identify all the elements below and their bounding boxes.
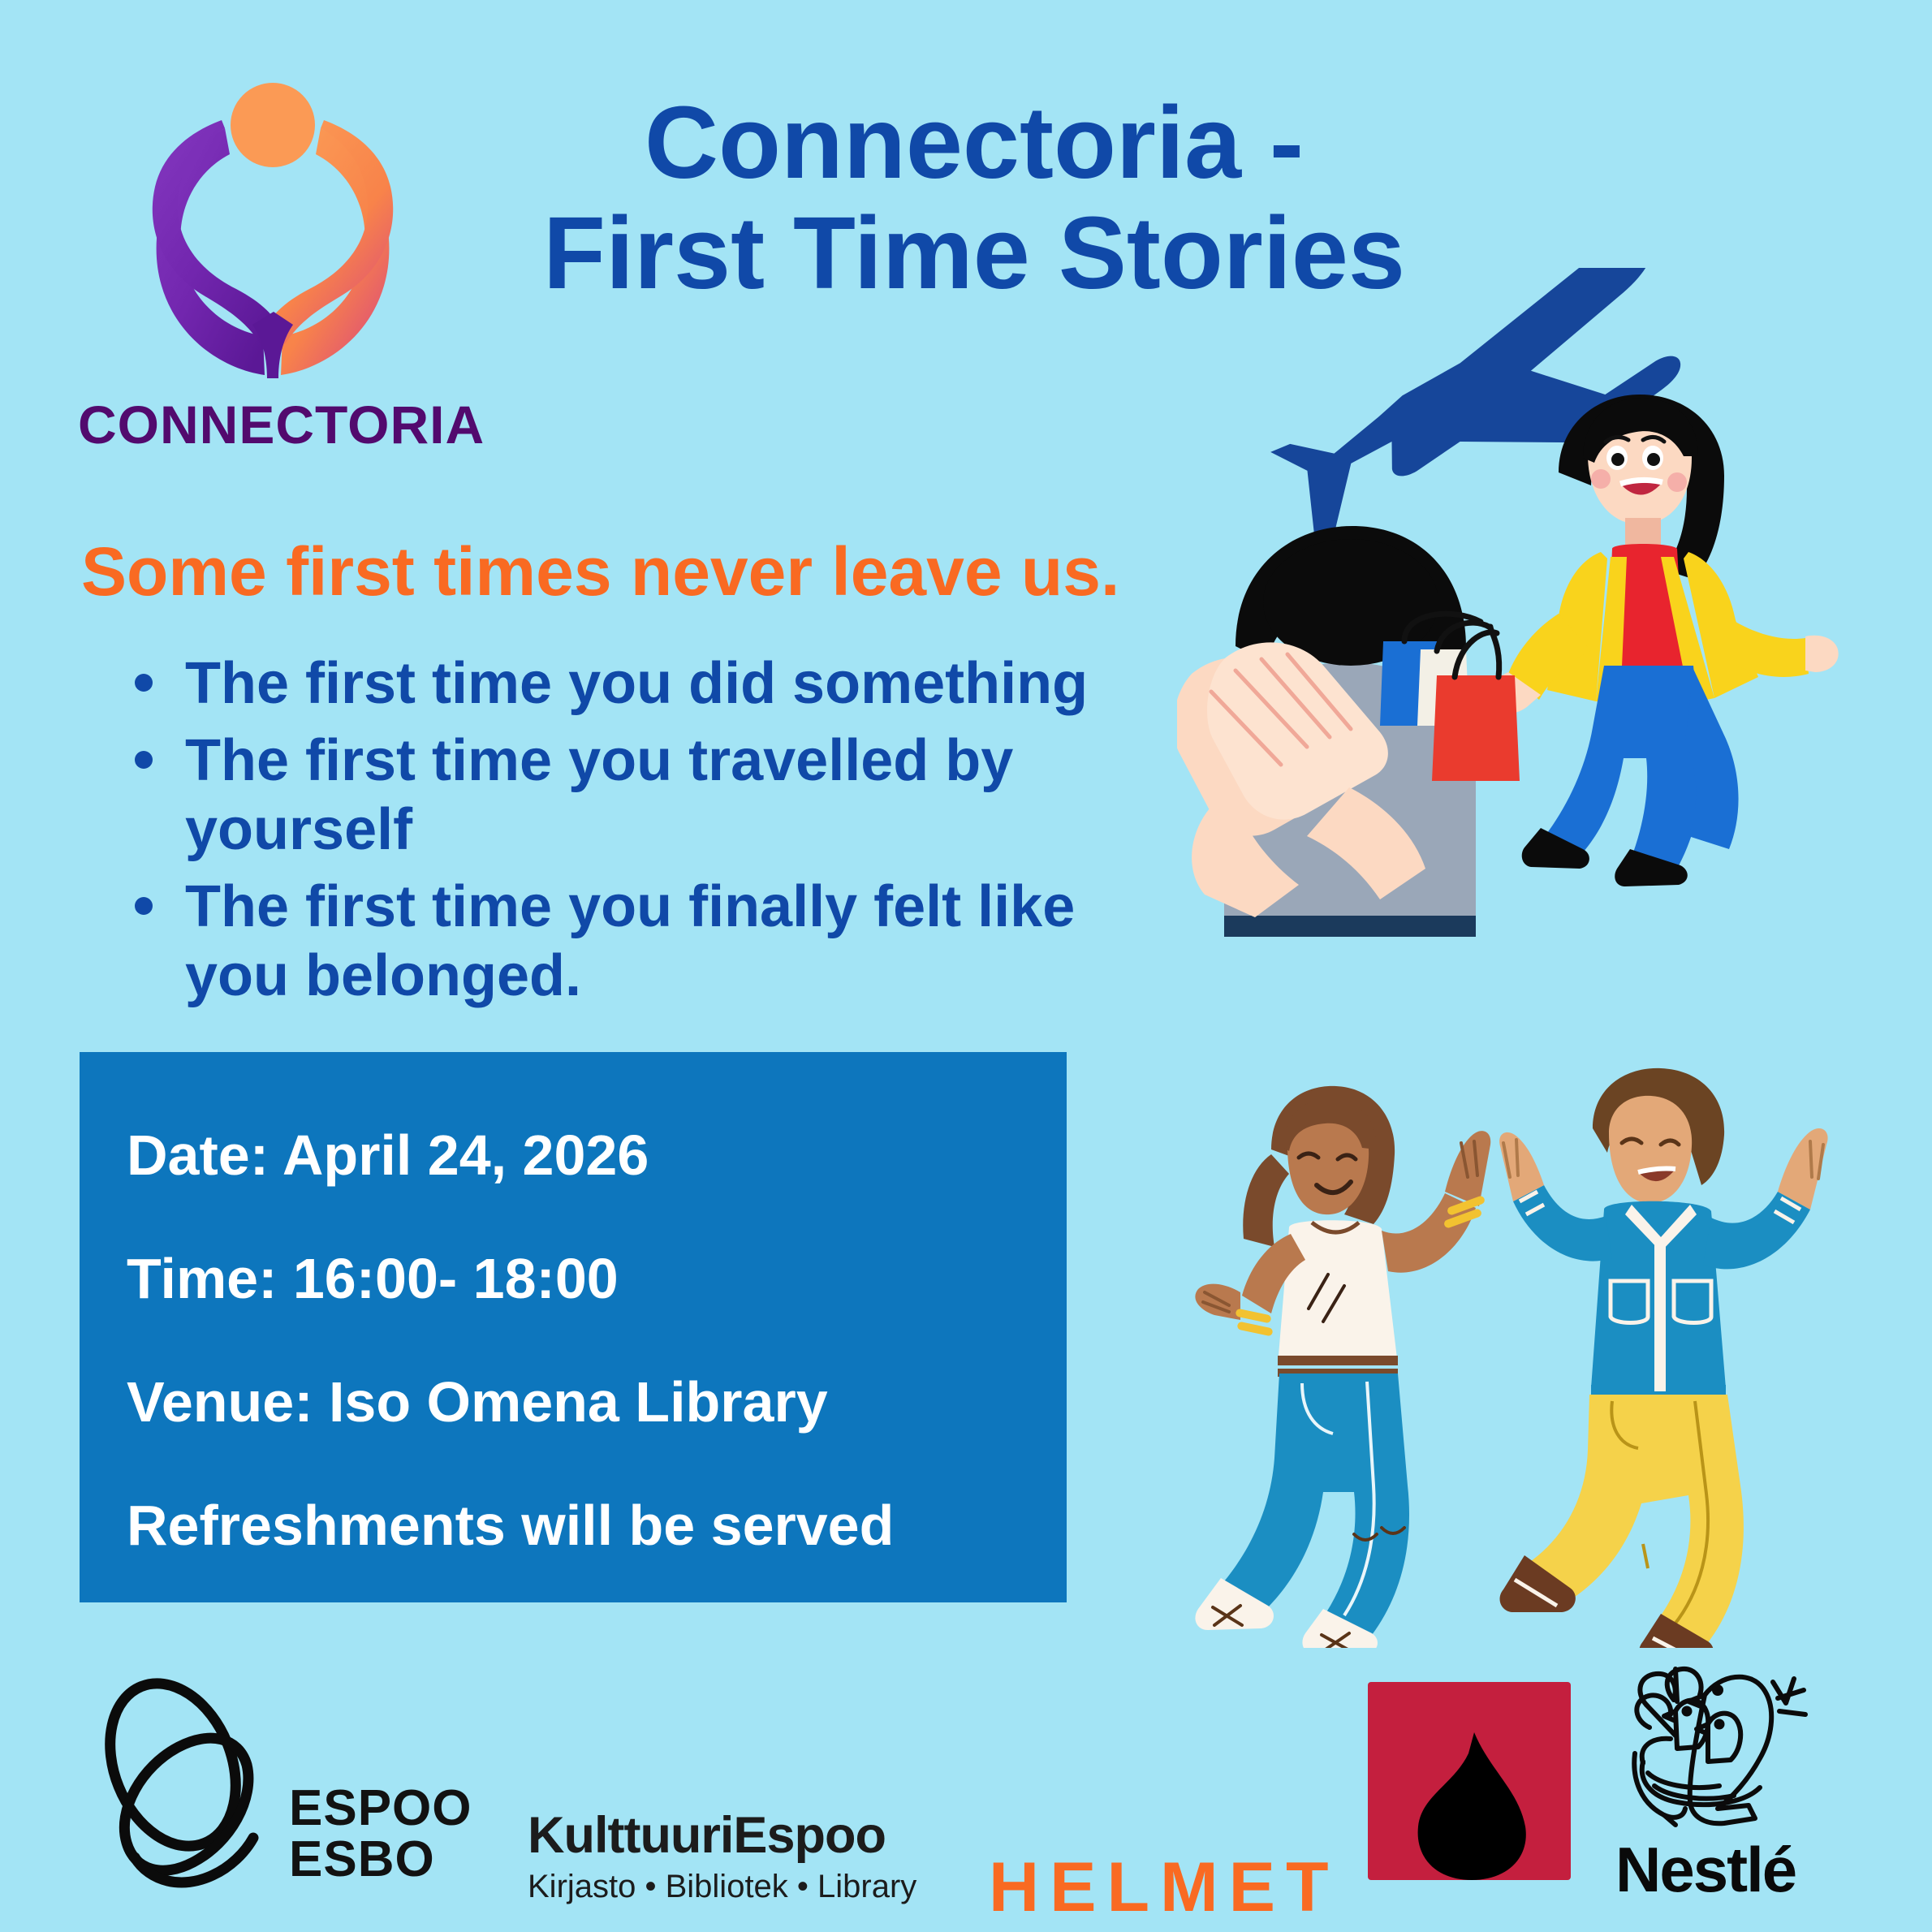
- bullet-dot-icon: [135, 751, 153, 769]
- footer-logo-strip: ESPOO ESBO KulttuuriEspoo Kirjasto • Bib…: [0, 1640, 1932, 1932]
- logo-nestle: Nestlé: [1615, 1658, 1859, 1901]
- brand-wordmark: CONNECTORIA: [78, 398, 468, 451]
- nestle-wordmark: Nestlé: [1615, 1838, 1859, 1901]
- connectoria-brand-block: CONNECTORIA: [78, 68, 468, 451]
- espoo-wordmark: ESPOO ESBO: [289, 1783, 472, 1885]
- espoo-line-1: ESPOO: [289, 1783, 472, 1834]
- flame-drop-icon: [1368, 1682, 1571, 1880]
- flame-square-background: [1368, 1682, 1571, 1880]
- kulttuuriespoo-wordmark: KulttuuriEspoo: [528, 1810, 916, 1861]
- connectoria-logo-icon: [131, 68, 415, 393]
- kulttuuriespoo-subtitle: Kirjasto • Bibliotek • Library: [528, 1866, 916, 1907]
- helmet-wordmark: HELMET: [989, 1852, 1339, 1922]
- person-covering-face: [1177, 526, 1476, 937]
- list-item: The first time you finally felt like you…: [185, 873, 1193, 1011]
- bullet-dot-icon: [135, 674, 153, 692]
- event-details-panel: Date: April 24, 2026 Time: 16:00- 18:00 …: [80, 1052, 1067, 1602]
- event-refreshments: Refreshments will be served: [127, 1497, 1067, 1554]
- nestle-birds-nest-icon: [1627, 1658, 1830, 1836]
- title-line-1: Connectoria -: [503, 88, 1445, 198]
- list-item-label: The first time you finally felt like you…: [185, 874, 1075, 1008]
- logo-helmet: HELMET: [989, 1852, 1339, 1922]
- logo-head-circle: [231, 83, 315, 167]
- espoo-line-2: ESBO: [289, 1834, 472, 1885]
- list-item-label: The first time you travelled by yourself: [185, 728, 1013, 862]
- illustration-group: [1177, 268, 1932, 1648]
- tagline: Some first times never leave us.: [81, 536, 1119, 607]
- illustration-svg: [1177, 268, 1932, 1648]
- espoo-mark-icon: [88, 1669, 266, 1904]
- bullet-dot-icon: [135, 897, 153, 915]
- logo-kulttuuriespoo: KulttuuriEspoo Kirjasto • Bibliotek • Li…: [528, 1810, 916, 1907]
- list-item: The first time you did something: [185, 649, 1193, 718]
- bullet-list: The first time you did something The fir…: [122, 649, 1193, 1019]
- poster-canvas: CONNECTORIA Connectoria - First Time Sto…: [0, 0, 1932, 1932]
- event-date: Date: April 24, 2026: [127, 1127, 1067, 1184]
- list-item-label: The first time you did something: [185, 651, 1088, 716]
- event-time: Time: 16:00- 18:00: [127, 1250, 1067, 1307]
- list-item: The first time you travelled by yourself: [185, 727, 1193, 865]
- logo-flame-square: [1368, 1682, 1571, 1880]
- man-jumping: [1499, 1068, 1827, 1648]
- woman-jumping: [1195, 1086, 1490, 1648]
- event-venue: Venue: Iso Omena Library: [127, 1374, 1067, 1430]
- logo-espoo: ESPOO ESBO: [88, 1669, 266, 1904]
